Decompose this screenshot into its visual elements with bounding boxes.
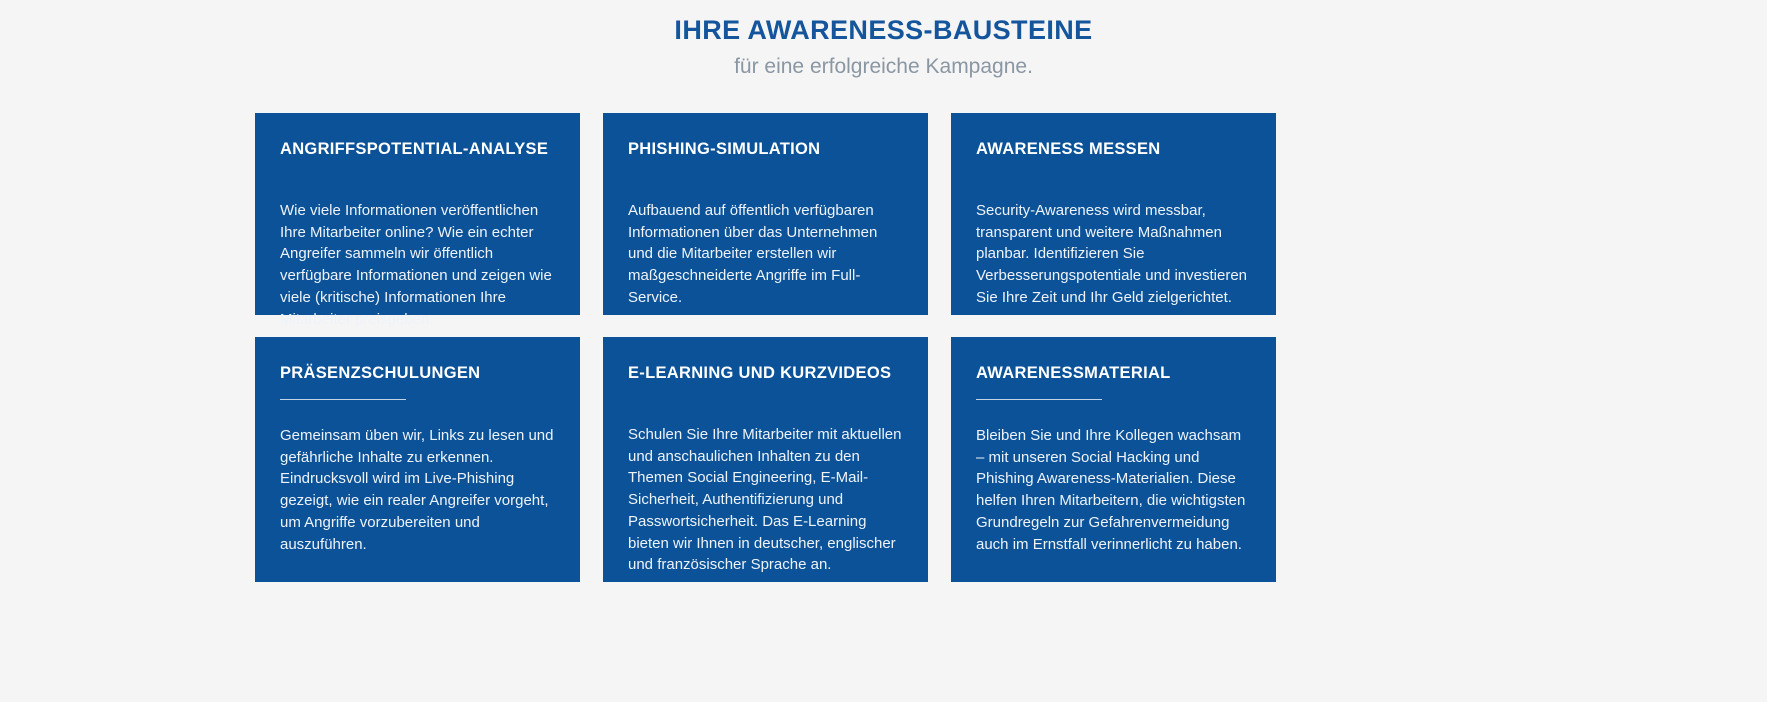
card-body: Schulen Sie Ihre Mitarbeiter mit aktuell… (628, 424, 903, 576)
card-title: AWARENESSMATERIAL (976, 364, 1251, 384)
card-angriffspotential-analyse[interactable]: ANGRIFFSPOTENTIAL-ANALYSE Wie viele Info… (255, 113, 580, 315)
page-subtitle: für eine erfolgreiche Kampagne. (0, 52, 1767, 81)
card-title: ANGRIFFSPOTENTIAL-ANALYSE (280, 140, 555, 160)
card-title: AWARENESS MESSEN (976, 140, 1251, 160)
card-body: Wie viele Informationen veröffentlichen … (280, 200, 555, 331)
card-body: Gemeinsam üben wir, Links zu lesen und g… (280, 425, 555, 556)
cards-grid: ANGRIFFSPOTENTIAL-ANALYSE Wie viele Info… (255, 113, 1276, 604)
card-title: PRÄSENZSCHULUNGEN (280, 364, 555, 384)
page-title: IHRE AWARENESS-BAUSTEINE (0, 14, 1767, 48)
cards-row-2: PRÄSENZSCHULUNGEN Gemeinsam üben wir, Li… (255, 337, 1276, 582)
card-body: Bleiben Sie und Ihre Kollegen wachsam – … (976, 425, 1251, 556)
card-praesenzschulungen[interactable]: PRÄSENZSCHULUNGEN Gemeinsam üben wir, Li… (255, 337, 580, 582)
awareness-bausteine-page: IHRE AWARENESS-BAUSTEINE für eine erfolg… (0, 0, 1767, 702)
card-body: Aufbauend auf öffentlich verfügbaren Inf… (628, 200, 903, 309)
card-title: E-LEARNING UND KURZVIDEOS (628, 364, 903, 384)
card-body: Security-Awareness wird messbar, transpa… (976, 200, 1251, 309)
card-divider (976, 399, 1102, 400)
card-divider (280, 399, 406, 400)
cards-row-1: ANGRIFFSPOTENTIAL-ANALYSE Wie viele Info… (255, 113, 1276, 315)
card-e-learning-und-kurzvideos[interactable]: E-LEARNING UND KURZVIDEOS Schulen Sie Ih… (603, 337, 928, 582)
card-title: PHISHING-SIMULATION (628, 140, 903, 160)
card-awareness-messen[interactable]: AWARENESS MESSEN Security-Awareness wird… (951, 113, 1276, 315)
card-awarenessmaterial[interactable]: AWARENESSMATERIAL Bleiben Sie und Ihre K… (951, 337, 1276, 582)
card-phishing-simulation[interactable]: PHISHING-SIMULATION Aufbauend auf öffent… (603, 113, 928, 315)
section-header: IHRE AWARENESS-BAUSTEINE für eine erfolg… (0, 0, 1767, 81)
